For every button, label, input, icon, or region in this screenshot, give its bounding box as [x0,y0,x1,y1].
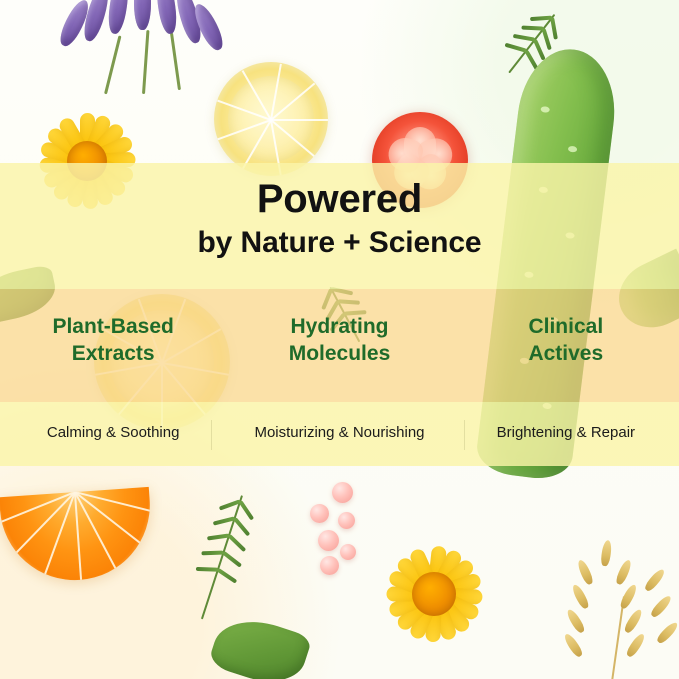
lemon-slice-icon [214,62,328,176]
column-headings: Plant-Based Extracts Hydrating Molecules… [0,314,679,368]
column-heading-line-1: Hydrating [226,314,452,341]
column-heading-line-1: Plant-Based [0,314,226,341]
column-heading-line-1: Clinical [453,314,679,341]
pink-beads-icon [304,482,380,582]
column-heading-clinical-actives: Clinical Actives [453,314,679,368]
wheat-stalks-icon [556,536,676,679]
column-heading-line-2: Actives [453,341,679,368]
column-heading-line-2: Extracts [0,341,226,368]
column-heading-plant-based-extracts: Plant-Based Extracts [0,314,226,368]
column-heading-hydrating-molecules: Hydrating Molecules [226,314,452,368]
column-subtitle-brightening-repair: Brightening & Repair [453,424,679,441]
column-subtitle-calming-soothing: Calming & Soothing [0,424,226,441]
headline-line-2: by Nature + Science [0,227,679,259]
column-subtitles: Calming & Soothing Moisturizing & Nouris… [0,424,679,441]
column-subtitle-moisturizing-nourishing: Moisturizing & Nourishing [226,424,452,441]
infographic-canvas: Powered by Nature + Science Plant-Based … [0,0,679,679]
headline-line-1: Powered [0,178,679,220]
calendula-flower-lower-icon [378,538,490,650]
headline: Powered by Nature + Science [0,178,679,259]
column-heading-line-2: Molecules [226,341,452,368]
